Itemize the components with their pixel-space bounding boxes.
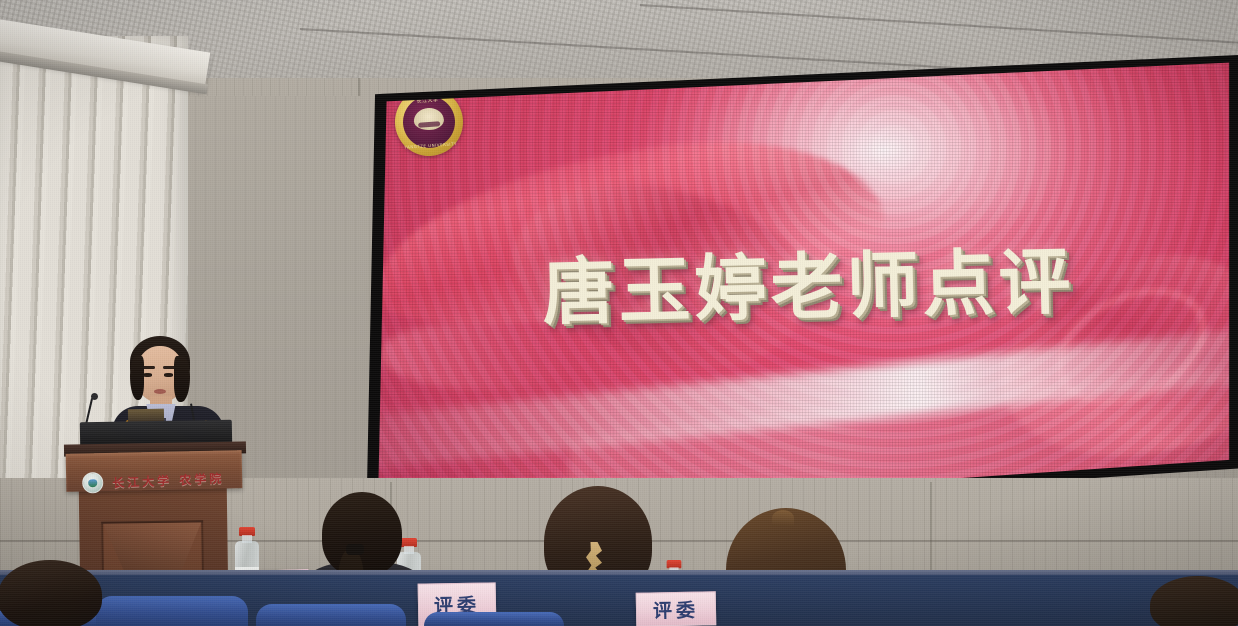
led-screen-surface: 长江大学 YANGTZE UNIVERSITY 唐玉婷老师点评 bbox=[352, 55, 1238, 533]
judge-name-card-3: 评委 bbox=[636, 591, 717, 626]
audience-member-far-right bbox=[1150, 576, 1238, 626]
lower-wall-seam bbox=[930, 482, 932, 582]
auditorium-chair bbox=[424, 612, 564, 626]
audience-member-left bbox=[0, 560, 110, 626]
college-seal-logo bbox=[82, 472, 104, 494]
auditorium-chair bbox=[96, 596, 248, 626]
presentation-photo-scene: 长江大学 YANGTZE UNIVERSITY 唐玉婷老师点评 bbox=[0, 0, 1238, 626]
slide-title-text: 唐玉婷老师点评 bbox=[542, 245, 1075, 328]
podium-label-text: 长江大学 农学院 bbox=[112, 469, 243, 491]
microphone-icon bbox=[91, 393, 98, 400]
presenter-eye bbox=[143, 373, 152, 377]
audience-hair bbox=[1150, 576, 1238, 626]
slide-title: 唐玉婷老师点评 bbox=[462, 244, 1154, 330]
led-display-screen: 长江大学 YANGTZE UNIVERSITY 唐玉婷老师点评 bbox=[352, 55, 1238, 533]
presenter-mouth bbox=[154, 389, 166, 394]
auditorium-chair bbox=[256, 604, 406, 626]
presenter-eye bbox=[164, 373, 173, 377]
presenter-hair-side bbox=[130, 356, 144, 400]
audience-hair-part bbox=[772, 510, 794, 526]
presenter-hair-side bbox=[174, 356, 190, 402]
ceiling-seam bbox=[640, 4, 1238, 46]
audience-hair bbox=[0, 560, 102, 626]
hair-tie-icon bbox=[346, 544, 364, 555]
podium-name-plate: 长江大学 农学院 bbox=[66, 450, 243, 492]
